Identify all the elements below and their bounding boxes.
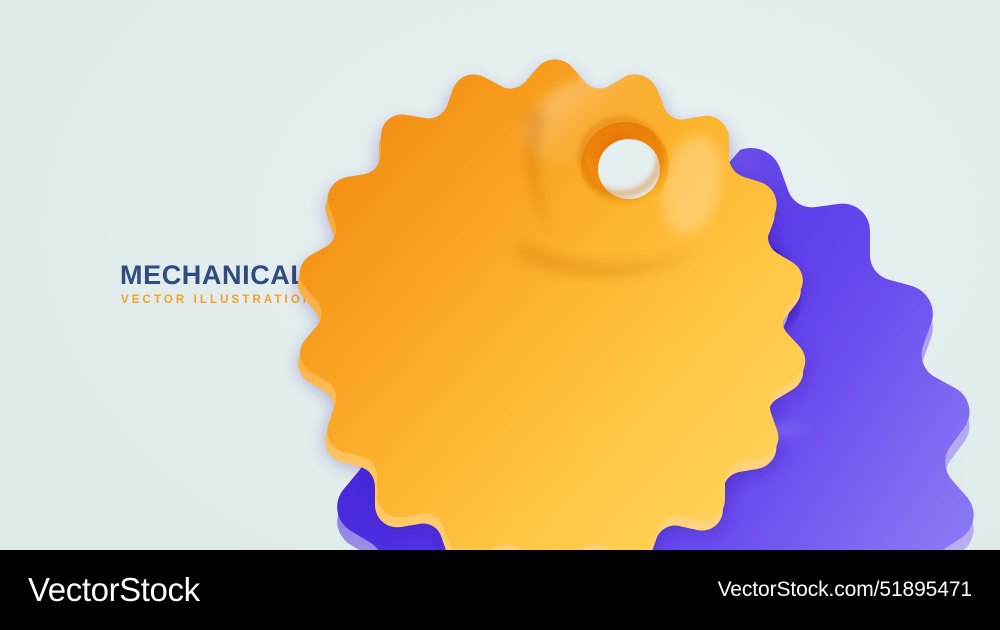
vectorstock-logo: VectorStock xyxy=(28,571,200,609)
vectorstock-credit-url: VectorStock.com/51895471 xyxy=(718,578,972,602)
gears-illustration xyxy=(0,0,1000,550)
watermark-footer: VectorStock VectorStock.com/51895471 xyxy=(0,550,1000,630)
orange-gear-group xyxy=(298,46,805,550)
illustration-page: MECHANICAL PROCESS VECTOR ILLUSTRATION xyxy=(0,0,1000,630)
